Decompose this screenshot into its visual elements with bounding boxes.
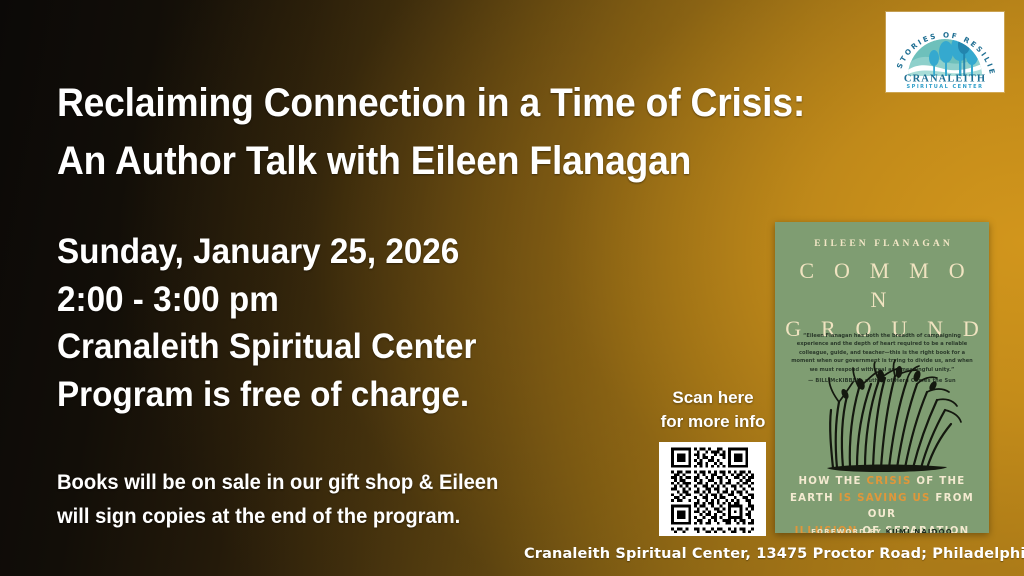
book-subtitle-line-2: EARTH IS SAVING US FROM OUR <box>781 491 983 524</box>
book-author: EILEEN FLANAGAN <box>775 239 989 249</box>
event-price: Program is free of charge. <box>57 371 476 419</box>
book-title: C O M M O N G R O U N D <box>775 256 989 343</box>
scan-label-line-2: for more info <box>648 410 778 434</box>
book-subtitle-line-1: HOW THE CRISIS OF THE <box>781 474 983 491</box>
grass-illustration-graphic <box>775 354 989 476</box>
event-time: 2:00 - 3:00 pm <box>57 276 476 324</box>
book-subtitle-seg-accent: IS SAVING US <box>839 493 931 504</box>
logo-graphic: STORIES OF RESILIENCE CRANALEITH SPIRITU… <box>886 12 1004 92</box>
book-sale-note-line-1: Books will be on sale in our gift shop &… <box>57 466 498 500</box>
scan-instruction: Scan here for more info <box>648 386 778 434</box>
headline-line-2: An Author Talk with Eileen Flanagan <box>57 132 829 190</box>
headline-line-1: Reclaiming Connection in a Time of Crisi… <box>57 74 829 132</box>
book-title-line-1: C O M M O N <box>775 256 989 314</box>
page-title: Reclaiming Connection in a Time of Crisi… <box>57 74 829 191</box>
qr-code-graphic <box>659 442 766 536</box>
book-cover: EILEEN FLANAGAN C O M M O N G R O U N D … <box>775 222 989 533</box>
event-venue: Cranaleith Spiritual Center <box>57 323 476 371</box>
logo-tagline: SPIRITUAL CENTER <box>907 84 984 90</box>
book-subtitle: HOW THE CRISIS OF THE EARTH IS SAVING US… <box>781 474 983 533</box>
book-foreword-name: KUMI NAIDOO <box>886 528 953 533</box>
grass-illustration-icon <box>775 354 989 476</box>
book-foreword: FOREWORD BY KUMI NAIDOO <box>775 528 989 533</box>
book-subtitle-seg: HOW THE <box>799 476 867 487</box>
footer-address: Cranaleith Spiritual Center, 13475 Proct… <box>524 546 1004 562</box>
book-subtitle-seg-accent: CRISIS <box>866 476 911 487</box>
event-details: Sunday, January 25, 2026 2:00 - 3:00 pm … <box>57 228 476 418</box>
logo-name: CRANALEITH <box>904 74 986 85</box>
event-poster: Reclaiming Connection in a Time of Crisi… <box>0 0 1024 576</box>
book-sale-note-line-2: will sign copies at the end of the progr… <box>57 500 498 534</box>
cranaleith-logo: STORIES OF RESILIENCE CRANALEITH SPIRITU… <box>886 12 1004 92</box>
event-date: Sunday, January 25, 2026 <box>57 228 476 276</box>
book-sale-note: Books will be on sale in our gift shop &… <box>57 466 498 533</box>
book-subtitle-seg: EARTH <box>790 493 839 504</box>
book-subtitle-seg: OF THE <box>912 476 966 487</box>
book-foreword-label: FOREWORD BY <box>811 528 885 533</box>
scan-label-line-1: Scan here <box>648 386 778 410</box>
qr-code[interactable] <box>659 442 766 536</box>
